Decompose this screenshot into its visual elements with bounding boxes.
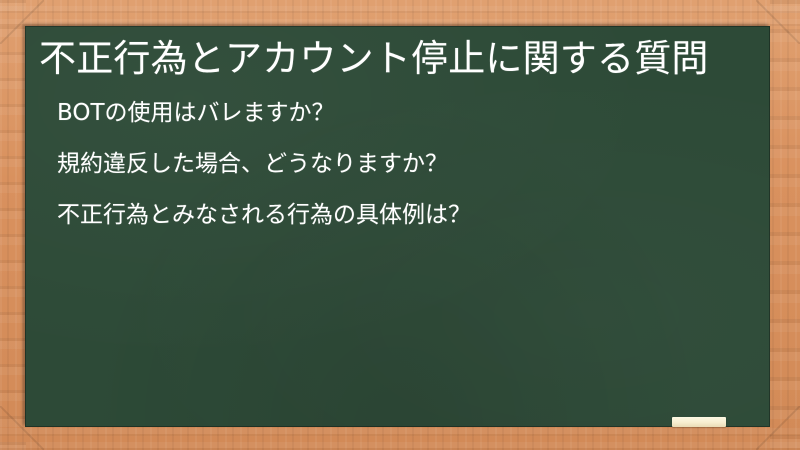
wood-grain-left <box>0 0 26 450</box>
list-item: 不正行為とみなされる行為の具体例は？ <box>33 204 746 227</box>
wood-grain-right <box>770 0 800 450</box>
list-item: BOTの使用はバレますか？ <box>33 102 746 125</box>
board-title: 不正行為とアカウント停止に関する質問 <box>33 34 746 84</box>
board-content: 不正行為とアカウント停止に関する質問 BOTの使用はバレますか？ 規約違反した場… <box>25 26 770 227</box>
chalkboard-surface: 不正行為とアカウント停止に関する質問 BOTの使用はバレますか？ 規約違反した場… <box>25 26 770 427</box>
wood-grain-top <box>0 0 800 26</box>
list-item: 規約違反した場合、どうなりますか？ <box>33 153 746 176</box>
chalk-stick <box>672 417 726 427</box>
wood-grain-bottom <box>0 426 800 450</box>
question-list: BOTの使用はバレますか？ 規約違反した場合、どうなりますか？ 不正行為とみなさ… <box>33 102 746 227</box>
blackboard-frame: 不正行為とアカウント停止に関する質問 BOTの使用はバレますか？ 規約違反した場… <box>0 0 800 450</box>
